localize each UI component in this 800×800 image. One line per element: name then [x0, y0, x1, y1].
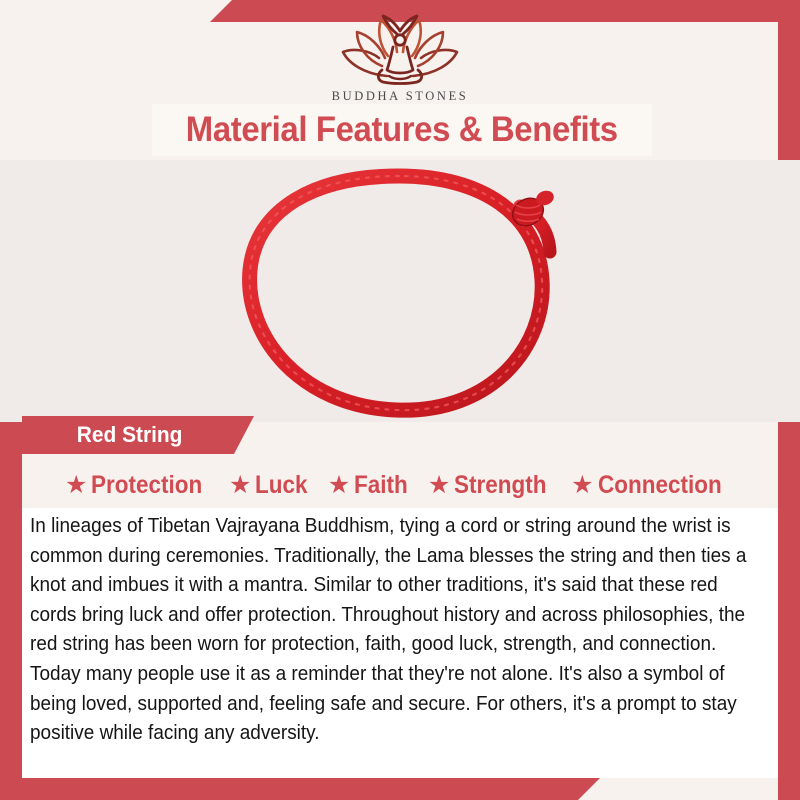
- benefit-item-protection: ★ Protection: [59, 471, 221, 500]
- benefit-item-faith: ★ Faith: [322, 471, 420, 500]
- page-title: Material Features & Benefits: [186, 110, 618, 150]
- material-label: Red String: [77, 422, 183, 448]
- brand-logo: BUDDHA STONES: [0, 14, 800, 104]
- benefit-item-connection: ★ Connection: [565, 471, 741, 500]
- benefit-label: Strength: [454, 471, 547, 500]
- benefit-label: Faith: [354, 471, 408, 500]
- star-icon: ★: [428, 473, 450, 498]
- star-icon: ★: [65, 473, 87, 498]
- benefit-label: Luck: [255, 471, 308, 500]
- bottom-red-band: [0, 778, 800, 800]
- title-banner: Material Features & Benefits: [152, 104, 652, 156]
- star-icon: ★: [328, 473, 350, 498]
- benefit-item-luck: ★ Luck: [223, 471, 320, 500]
- description-text: In lineages of Tibetan Vajrayana Buddhis…: [30, 512, 760, 749]
- benefit-item-strength: ★ Strength: [422, 471, 563, 500]
- benefit-label: Protection: [91, 471, 202, 500]
- benefits-row: ★ Protection ★ Luck ★ Faith ★ Strength ★…: [22, 464, 778, 506]
- description-panel: In lineages of Tibetan Vajrayana Buddhis…: [22, 508, 778, 778]
- material-label-ribbon: Red String: [22, 416, 254, 454]
- lotus-meditation-icon: [325, 14, 475, 86]
- star-icon: ★: [229, 473, 251, 498]
- red-string-bracelet-image: [0, 160, 800, 422]
- brand-name: BUDDHA STONES: [332, 89, 469, 104]
- benefit-label: Connection: [598, 471, 722, 500]
- product-photo: [0, 160, 800, 422]
- star-icon: ★: [571, 473, 593, 498]
- infographic-page: BUDDHA STONES Material Features & Benefi…: [0, 0, 800, 800]
